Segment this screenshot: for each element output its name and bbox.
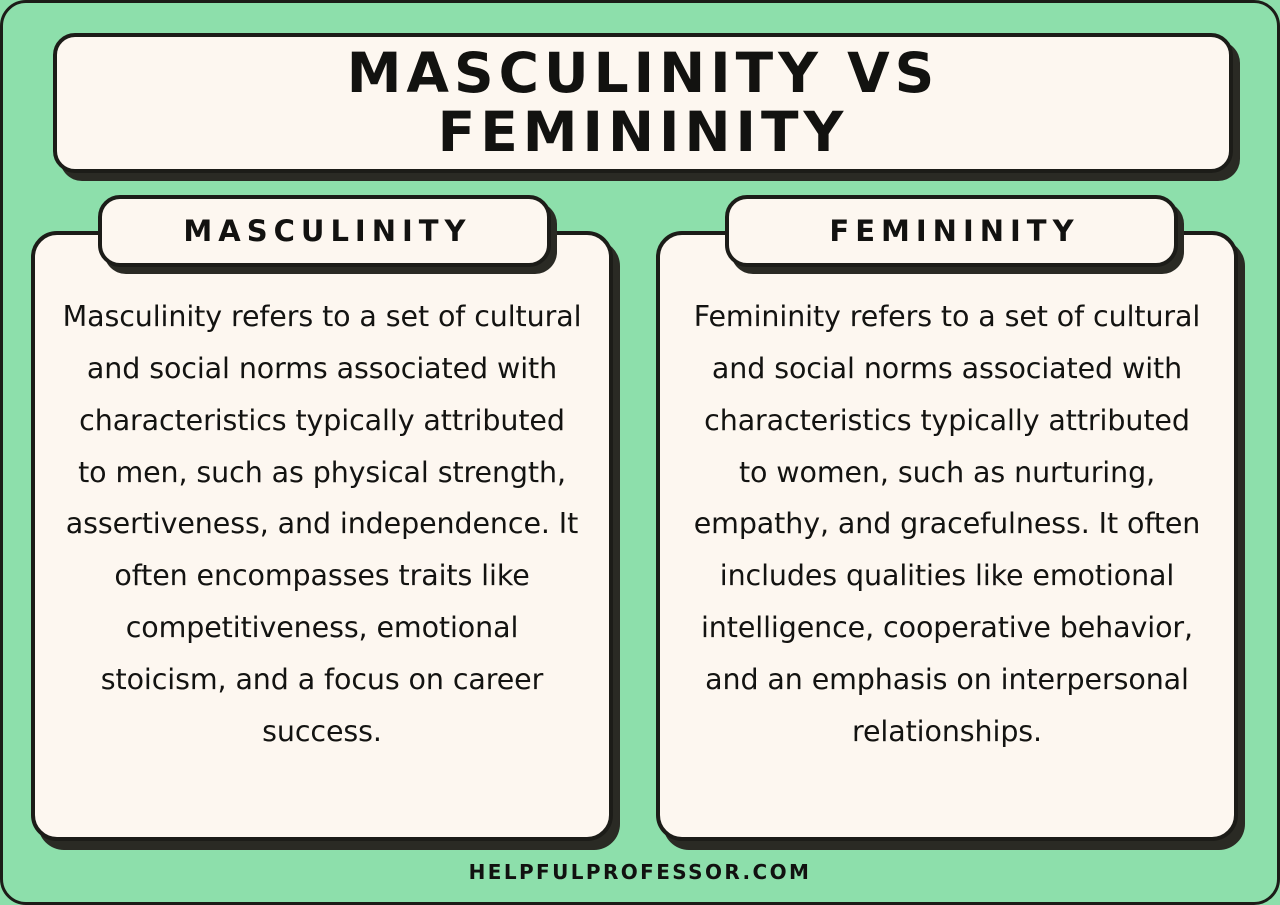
- column-header-tab-femininity: FEMININITY: [725, 195, 1178, 267]
- title-banner: MASCULINITY VS FEMININITY: [53, 33, 1233, 173]
- column-header-label: MASCULINITY: [177, 214, 471, 248]
- content-card: Femininity refers to a set of cultural a…: [656, 231, 1238, 841]
- column-header-tab-masculinity: MASCULINITY: [98, 195, 551, 267]
- masculinity-description: Masculinity refers to a set of cultural …: [61, 291, 583, 758]
- femininity-description: Femininity refers to a set of cultural a…: [686, 291, 1208, 758]
- card-body: Masculinity refers to a set of cultural …: [61, 291, 583, 811]
- card-body: Femininity refers to a set of cultural a…: [686, 291, 1208, 811]
- footer: HELPFULPROFESSOR.COM: [3, 860, 1277, 884]
- content-card: Masculinity refers to a set of cultural …: [31, 231, 613, 841]
- page-title: MASCULINITY VS FEMININITY: [347, 44, 940, 163]
- comparison-column-masculinity: Masculinity refers to a set of cultural …: [31, 231, 613, 841]
- infographic-root: MASCULINITY VS FEMININITY Masculinity re…: [0, 0, 1280, 905]
- comparison-column-femininity: Femininity refers to a set of cultural a…: [656, 231, 1238, 841]
- column-header-label: FEMININITY: [823, 214, 1079, 248]
- site-attribution: HELPFULPROFESSOR.COM: [469, 860, 812, 884]
